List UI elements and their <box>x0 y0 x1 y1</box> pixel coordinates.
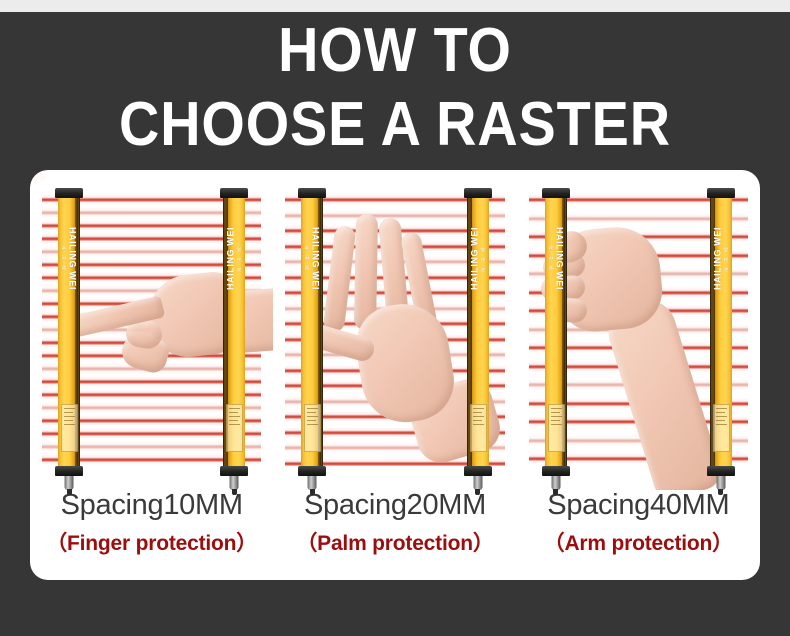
sticker-line <box>473 412 482 413</box>
sticker-line <box>307 420 316 421</box>
panel-40mm: HAILING WEI 海 凌 威 <box>517 170 760 580</box>
sticker-line <box>551 424 562 425</box>
hand-fingernail <box>30 170 47 184</box>
bar-bottom-cap <box>542 466 570 476</box>
bar-brand-subtext: 海 凌 威 <box>480 227 486 290</box>
bar-top-cap <box>542 188 570 198</box>
light-curtain-bar-left-40mm: HAILING WEI 海 凌 威 <box>545 188 567 476</box>
bar-brand-subtext: 海 凌 威 <box>61 227 67 290</box>
bar-brand-text: HAILING WEI <box>554 227 564 290</box>
light-curtain-bar-left-10mm: HAILING WEI 海 凌 威 <box>58 188 80 476</box>
sticker-line <box>229 412 238 413</box>
bar-top-cap <box>298 188 326 198</box>
sticker-line <box>64 416 75 417</box>
bar-spec-sticker <box>548 404 565 452</box>
panel-row: HAILING WEI 海 凌 威 <box>30 170 760 580</box>
sticker-line <box>473 408 484 409</box>
sticker-line <box>307 412 316 413</box>
sticker-line <box>307 424 318 425</box>
content-card: HAILING WEI 海 凌 威 <box>30 170 760 580</box>
bar-cable-connector <box>716 475 725 490</box>
sticker-line <box>307 408 318 409</box>
sticker-line <box>716 408 727 409</box>
bar-bottom-cap <box>298 466 326 476</box>
bar-top-cap <box>464 188 492 198</box>
sticker-line <box>551 416 562 417</box>
sticker-line <box>64 412 73 413</box>
bar-bottom-cap <box>220 466 248 476</box>
bar-brand-subtext: 海 凌 威 <box>723 227 729 290</box>
bar-brand-label: HAILING WEI 海 凌 威 <box>226 227 243 290</box>
sticker-line <box>229 420 238 421</box>
bar-bottom-cap <box>55 466 83 476</box>
panel-10mm: HAILING WEI 海 凌 威 <box>30 170 273 580</box>
bar-brand-subtext: 海 凌 威 <box>237 227 243 290</box>
infographic-page: HOW TO CHOOSE A RASTER <box>0 0 790 636</box>
bar-cable-connector <box>230 475 239 490</box>
sticker-line <box>716 424 727 425</box>
sticker-line <box>551 412 560 413</box>
bar-brand-label: HAILING WEI 海 凌 威 <box>61 227 78 290</box>
panel-20mm: HAILING WEI 海 凌 威 <box>273 170 516 580</box>
sticker-line <box>64 424 75 425</box>
sticker-line <box>229 424 240 425</box>
sticker-line <box>64 420 73 421</box>
bar-brand-text: HAILING WEI <box>226 227 236 290</box>
sticker-line <box>229 408 240 409</box>
bar-top-cap <box>220 188 248 198</box>
bar-top-cap <box>55 188 83 198</box>
bar-bottom-cap <box>707 466 735 476</box>
bar-body: HAILING WEI 海 凌 威 <box>301 196 323 468</box>
light-curtain-bar-right-20mm: HAILING WEI 海 凌 威 <box>467 188 489 476</box>
protection-label: （Palm protection） <box>273 528 516 560</box>
light-curtain-bar-right-40mm: HAILING WEI 海 凌 威 <box>710 188 732 476</box>
bar-cable-connector <box>65 475 74 490</box>
bar-body: HAILING WEI 海 凌 威 <box>710 196 732 468</box>
caption-40mm: Spacing40MM （Arm protection） <box>517 486 760 560</box>
sticker-line <box>473 420 482 421</box>
sticker-line <box>716 416 727 417</box>
bar-cable-connector <box>473 475 482 490</box>
bar-spec-sticker <box>470 404 487 452</box>
light-curtain-bar-right-10mm: HAILING WEI 海 凌 威 <box>223 188 245 476</box>
sticker-line <box>716 420 725 421</box>
caption-20mm: Spacing20MM （Palm protection） <box>273 486 516 560</box>
caption-10mm: Spacing10MM （Finger protection） <box>30 486 273 560</box>
bar-brand-label: HAILING WEI 海 凌 威 <box>304 227 321 290</box>
sticker-line <box>716 412 725 413</box>
protection-label: （Finger protection） <box>30 528 273 560</box>
protection-label: （Arm protection） <box>517 528 760 560</box>
bar-body: HAILING WEI 海 凌 威 <box>467 196 489 468</box>
bar-brand-text: HAILING WEI <box>712 227 722 290</box>
title-line-2: CHOOSE A RASTER <box>40 88 751 162</box>
bar-spec-sticker <box>304 404 321 452</box>
bar-cable-connector <box>551 475 560 490</box>
sticker-line <box>551 408 562 409</box>
bar-spec-sticker <box>226 404 243 452</box>
bar-brand-text: HAILING WEI <box>469 227 479 290</box>
bar-cable-connector <box>308 475 317 490</box>
bar-spec-sticker <box>713 404 730 452</box>
page-title: HOW TO CHOOSE A RASTER <box>0 14 790 162</box>
bar-brand-subtext: 海 凌 威 <box>547 227 553 290</box>
bar-brand-label: HAILING WEI 海 凌 威 <box>547 227 564 290</box>
bar-brand-label: HAILING WEI 海 凌 威 <box>469 227 486 290</box>
sticker-line <box>551 420 560 421</box>
bar-body: HAILING WEI 海 凌 威 <box>545 196 567 468</box>
bar-bottom-cap <box>464 466 492 476</box>
top-strip <box>0 0 790 12</box>
bar-top-cap <box>707 188 735 198</box>
bar-brand-subtext: 海 凌 威 <box>304 227 310 290</box>
bar-spec-sticker <box>61 404 78 452</box>
sticker-line <box>64 408 75 409</box>
sticker-line <box>473 416 484 417</box>
light-curtain-bar-left-20mm: HAILING WEI 海 凌 威 <box>301 188 323 476</box>
bar-body: HAILING WEI 海 凌 威 <box>223 196 245 468</box>
bar-brand-text: HAILING WEI <box>68 227 78 290</box>
sticker-line <box>307 416 318 417</box>
sticker-line <box>229 416 240 417</box>
sticker-line <box>473 424 484 425</box>
bar-brand-text: HAILING WEI <box>311 227 321 290</box>
bar-body: HAILING WEI 海 凌 威 <box>58 196 80 468</box>
title-line-1: HOW TO <box>40 14 751 88</box>
bar-brand-label: HAILING WEI 海 凌 威 <box>712 227 729 290</box>
